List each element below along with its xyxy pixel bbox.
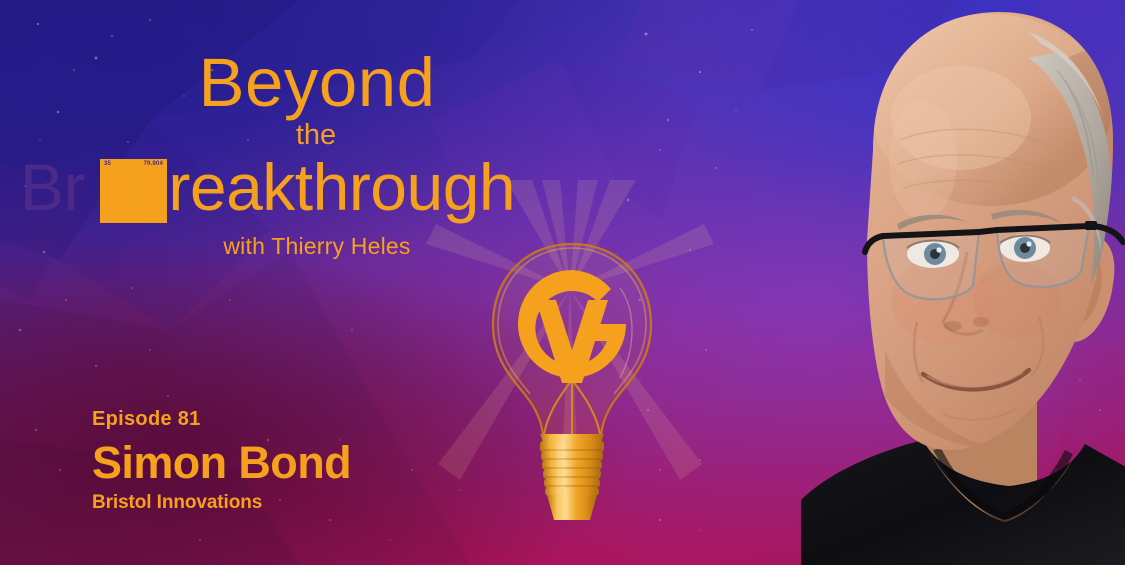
episode-number: Episode 81 xyxy=(92,408,351,431)
gv-lightbulb-logo xyxy=(470,228,675,548)
title-line-breakthrough: Breakthrough xyxy=(125,151,515,223)
title-line-beyond: Beyond xyxy=(14,48,620,117)
guest-organisation: Bristol Innovations xyxy=(92,492,351,514)
title-br-knockout-symbol: Br xyxy=(20,150,85,224)
guest-portrait xyxy=(661,0,1125,565)
element-atomic-number: 35 xyxy=(104,161,111,167)
title-line-breakthrough-row: 35 79.904 Breakthrough Breakthrough xyxy=(0,151,620,223)
guest-info-block: Episode 81 Simon Bond Bristol Innovation… xyxy=(92,408,351,514)
podcast-cover-art: Beyond the 35 79.904 Breakthrough Breakt… xyxy=(0,0,1125,565)
guest-name: Simon Bond xyxy=(92,439,351,486)
title-line-the: the xyxy=(12,121,620,150)
bulb-screw-base xyxy=(540,434,604,520)
podcast-title-block: Beyond the 35 79.904 Breakthrough Breakt… xyxy=(0,48,620,258)
